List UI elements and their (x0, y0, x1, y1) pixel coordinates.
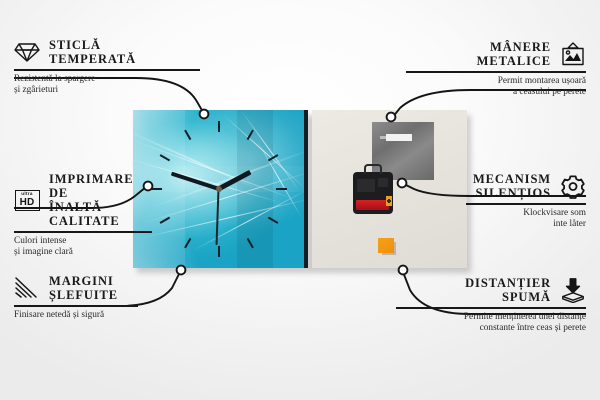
hd-badge: ultra HD (15, 190, 40, 211)
foam-spacer-pad (378, 238, 394, 253)
feature-divider (466, 203, 586, 205)
hanger-slot (386, 134, 412, 141)
feature-polished-edges: MARGINI ȘLEFUITE Finisare netedă și sigu… (14, 274, 138, 321)
feature-tempered-glass: STICLĂ TEMPERATĂ Rezistentă la spargere … (14, 38, 200, 97)
clock-hand-cap (216, 186, 222, 192)
feature-title: MARGINI ȘLEFUITE (49, 274, 118, 302)
feature-subtitle: Permite menținerea unei distanțe constan… (396, 312, 586, 335)
gear-icon (560, 173, 586, 199)
aa-battery (356, 200, 389, 210)
feature-subtitle: Klockvisare som inte låter (466, 208, 586, 231)
feature-header: MARGINI ȘLEFUITE (14, 274, 138, 302)
feature-metal-handles: MÂNERE METALICE Permit montarea ușoară a… (406, 40, 586, 99)
diamond-icon (14, 39, 40, 65)
feature-divider (396, 307, 586, 309)
feature-subtitle: Permit montarea ușoară a ceasului pe per… (406, 76, 586, 99)
feature-subtitle: Culori intense și imagine clară (14, 236, 152, 259)
feature-divider (14, 231, 152, 233)
feature-subtitle: Rezistentă la spargere și zgârieturi (14, 74, 200, 97)
mechanism-hang-loop (364, 164, 382, 174)
feature-title: IMPRIMARE DE ÎNALTĂ CALITATE (49, 172, 152, 228)
clock-front-panel (133, 110, 308, 268)
feature-subtitle: Finisare netedă și sigură (14, 310, 138, 322)
hd-badge-large-text: HD (20, 198, 35, 208)
feature-high-quality-print: ultra HD IMPRIMARE DE ÎNALTĂ CALITATE Cu… (14, 172, 152, 259)
feature-header: ultra HD IMPRIMARE DE ÎNALTĂ CALITATE (14, 172, 152, 228)
feature-header: MECANISM SILENȚIOS (466, 172, 586, 200)
arrow-down-onto-layer-icon (560, 277, 586, 303)
clock-tick (218, 121, 220, 132)
ultra-hd-badge-icon: ultra HD (14, 187, 40, 213)
feature-title: MÂNERE METALICE (477, 40, 551, 68)
framed-picture-hook-icon (560, 41, 586, 67)
clock-back-panel (312, 110, 467, 268)
diagonal-lines-icon (14, 275, 40, 301)
feature-silent-mechanism: MECANISM SILENȚIOS Klockvisare som inte … (466, 172, 586, 231)
feature-divider (14, 69, 200, 71)
feature-header: MÂNERE METALICE (406, 40, 586, 68)
mechanism-detail (378, 178, 388, 187)
feature-header: STICLĂ TEMPERATĂ (14, 38, 200, 66)
clock-tick (151, 188, 162, 190)
feature-title: DISTANȚIER SPUMĂ (465, 276, 551, 304)
clock-tick (218, 246, 220, 257)
infographic-canvas: STICLĂ TEMPERATĂ Rezistentă la spargere … (0, 0, 600, 400)
feature-divider (406, 71, 586, 73)
mechanism-detail (357, 179, 375, 192)
clock-mechanism (353, 172, 393, 214)
feature-foam-spacer: DISTANȚIER SPUMĂ Permite menținerea unei… (396, 276, 586, 335)
product-image (133, 110, 467, 270)
feature-title: MECANISM SILENȚIOS (473, 172, 551, 200)
feature-header: DISTANȚIER SPUMĂ (396, 276, 586, 304)
feature-divider (14, 305, 138, 307)
clock-tick (276, 188, 287, 190)
feature-title: STICLĂ TEMPERATĂ (49, 38, 136, 66)
battery-plus-terminal (386, 196, 392, 206)
